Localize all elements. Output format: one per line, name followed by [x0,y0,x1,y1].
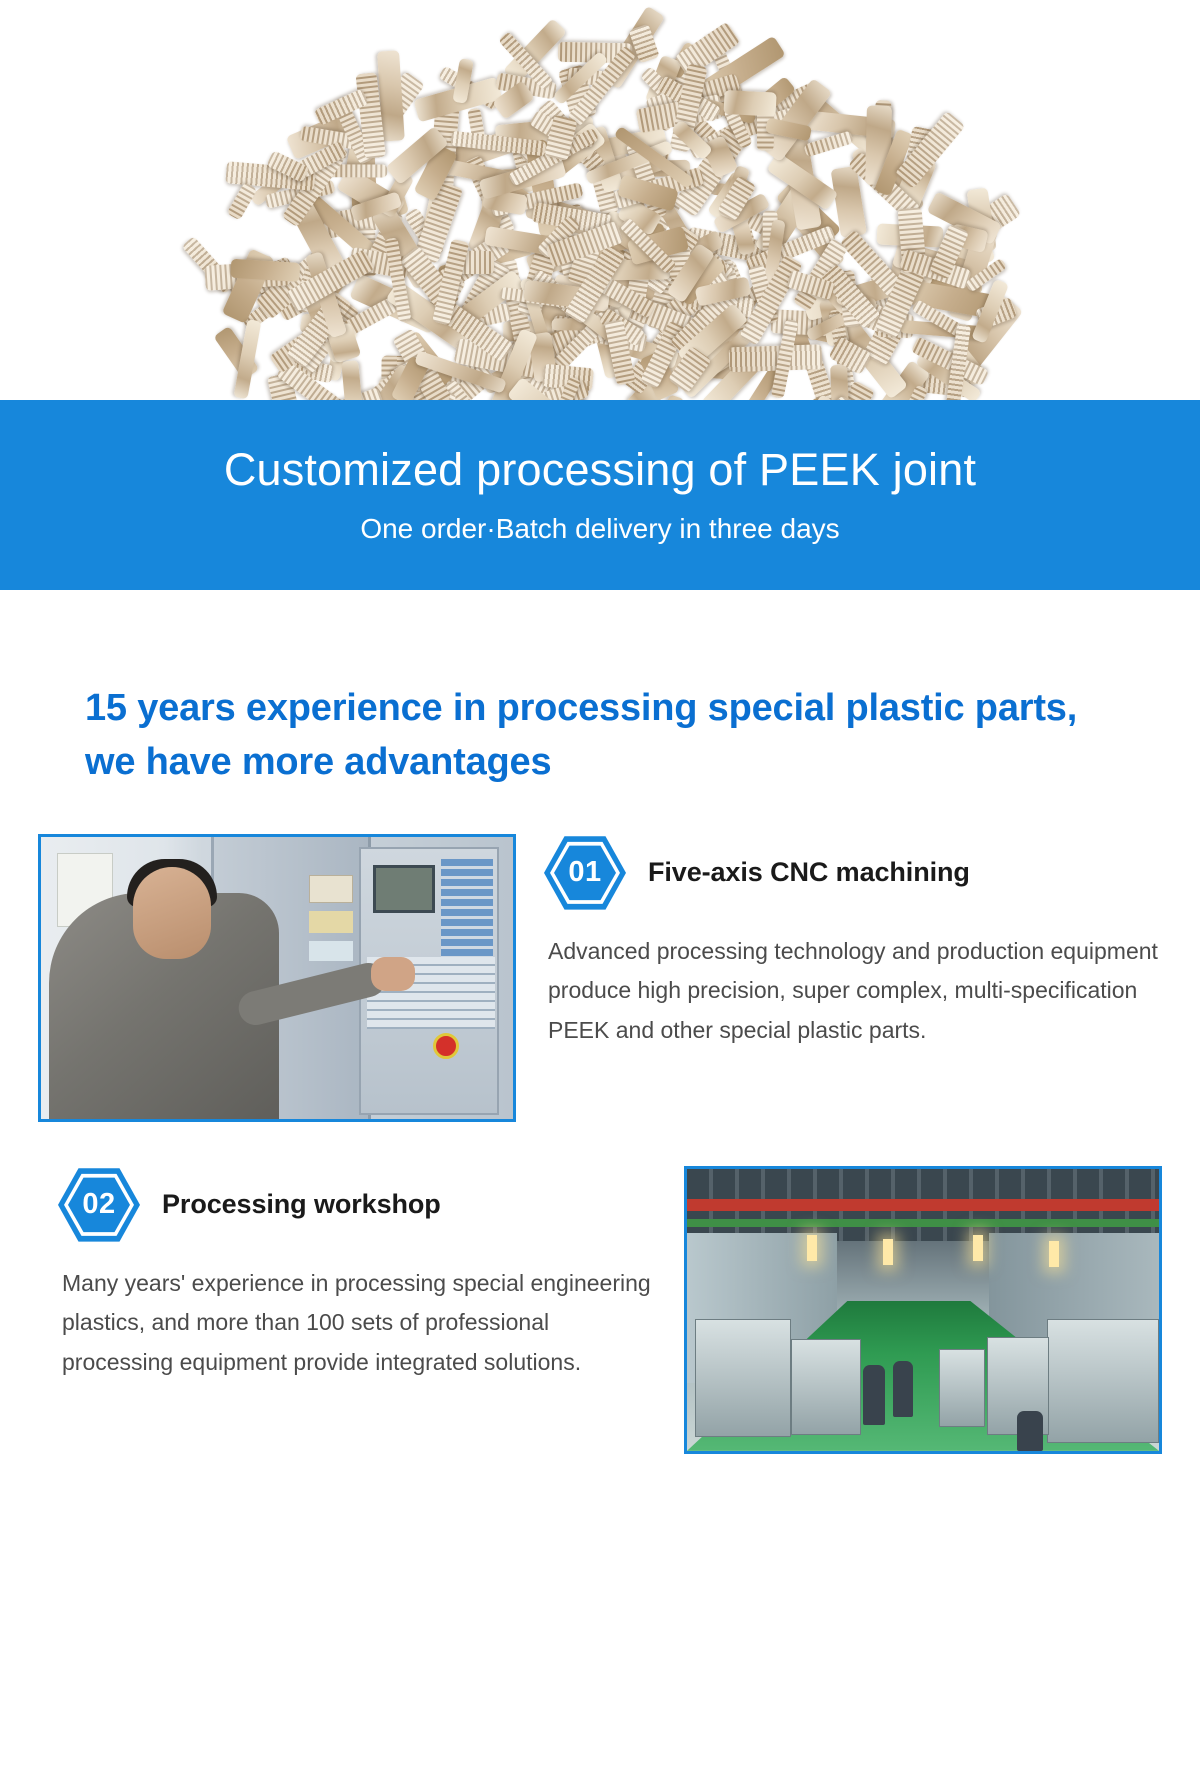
feature-01-content: 01 Five-axis CNC machining Advanced proc… [516,834,1162,1051]
feature-block-01: 01 Five-axis CNC machining Advanced proc… [0,834,1200,1122]
hero-subtitle: One order·Batch delivery in three days [360,513,839,545]
feature-02-content: 02 Processing workshop Many years' exper… [38,1166,684,1383]
feature-02-body: Many years' experience in processing spe… [58,1264,654,1383]
hex-badge-number: 01 [568,856,601,889]
hex-badge-01: 01 [544,834,626,912]
cnc-operator-image [41,837,513,1119]
hex-badge-number: 02 [82,1188,115,1221]
hero-section: Customized processing of PEEK joint One … [0,0,1200,630]
feature-01-title: Five-axis CNC machining [648,857,970,888]
feature-01-body: Advanced processing technology and produ… [544,932,1162,1051]
workshop-image [687,1169,1159,1451]
feature-02-title: Processing workshop [162,1189,441,1220]
section-headline: 15 years experience in processing specia… [85,682,1120,790]
hero-title-band: Customized processing of PEEK joint One … [0,400,1200,590]
product-detail-page: Customized processing of PEEK joint One … [0,0,1200,1772]
feature-01-header: 01 Five-axis CNC machining [544,834,1162,912]
emergency-stop-icon [433,1033,459,1059]
feature-photo-workshop [684,1166,1162,1454]
feature-02-header: 02 Processing workshop [58,1166,654,1244]
feature-photo-cnc [38,834,516,1122]
hero-title: Customized processing of PEEK joint [224,445,976,495]
hex-badge-02: 02 [58,1166,140,1244]
feature-block-02: 02 Processing workshop Many years' exper… [0,1166,1200,1454]
